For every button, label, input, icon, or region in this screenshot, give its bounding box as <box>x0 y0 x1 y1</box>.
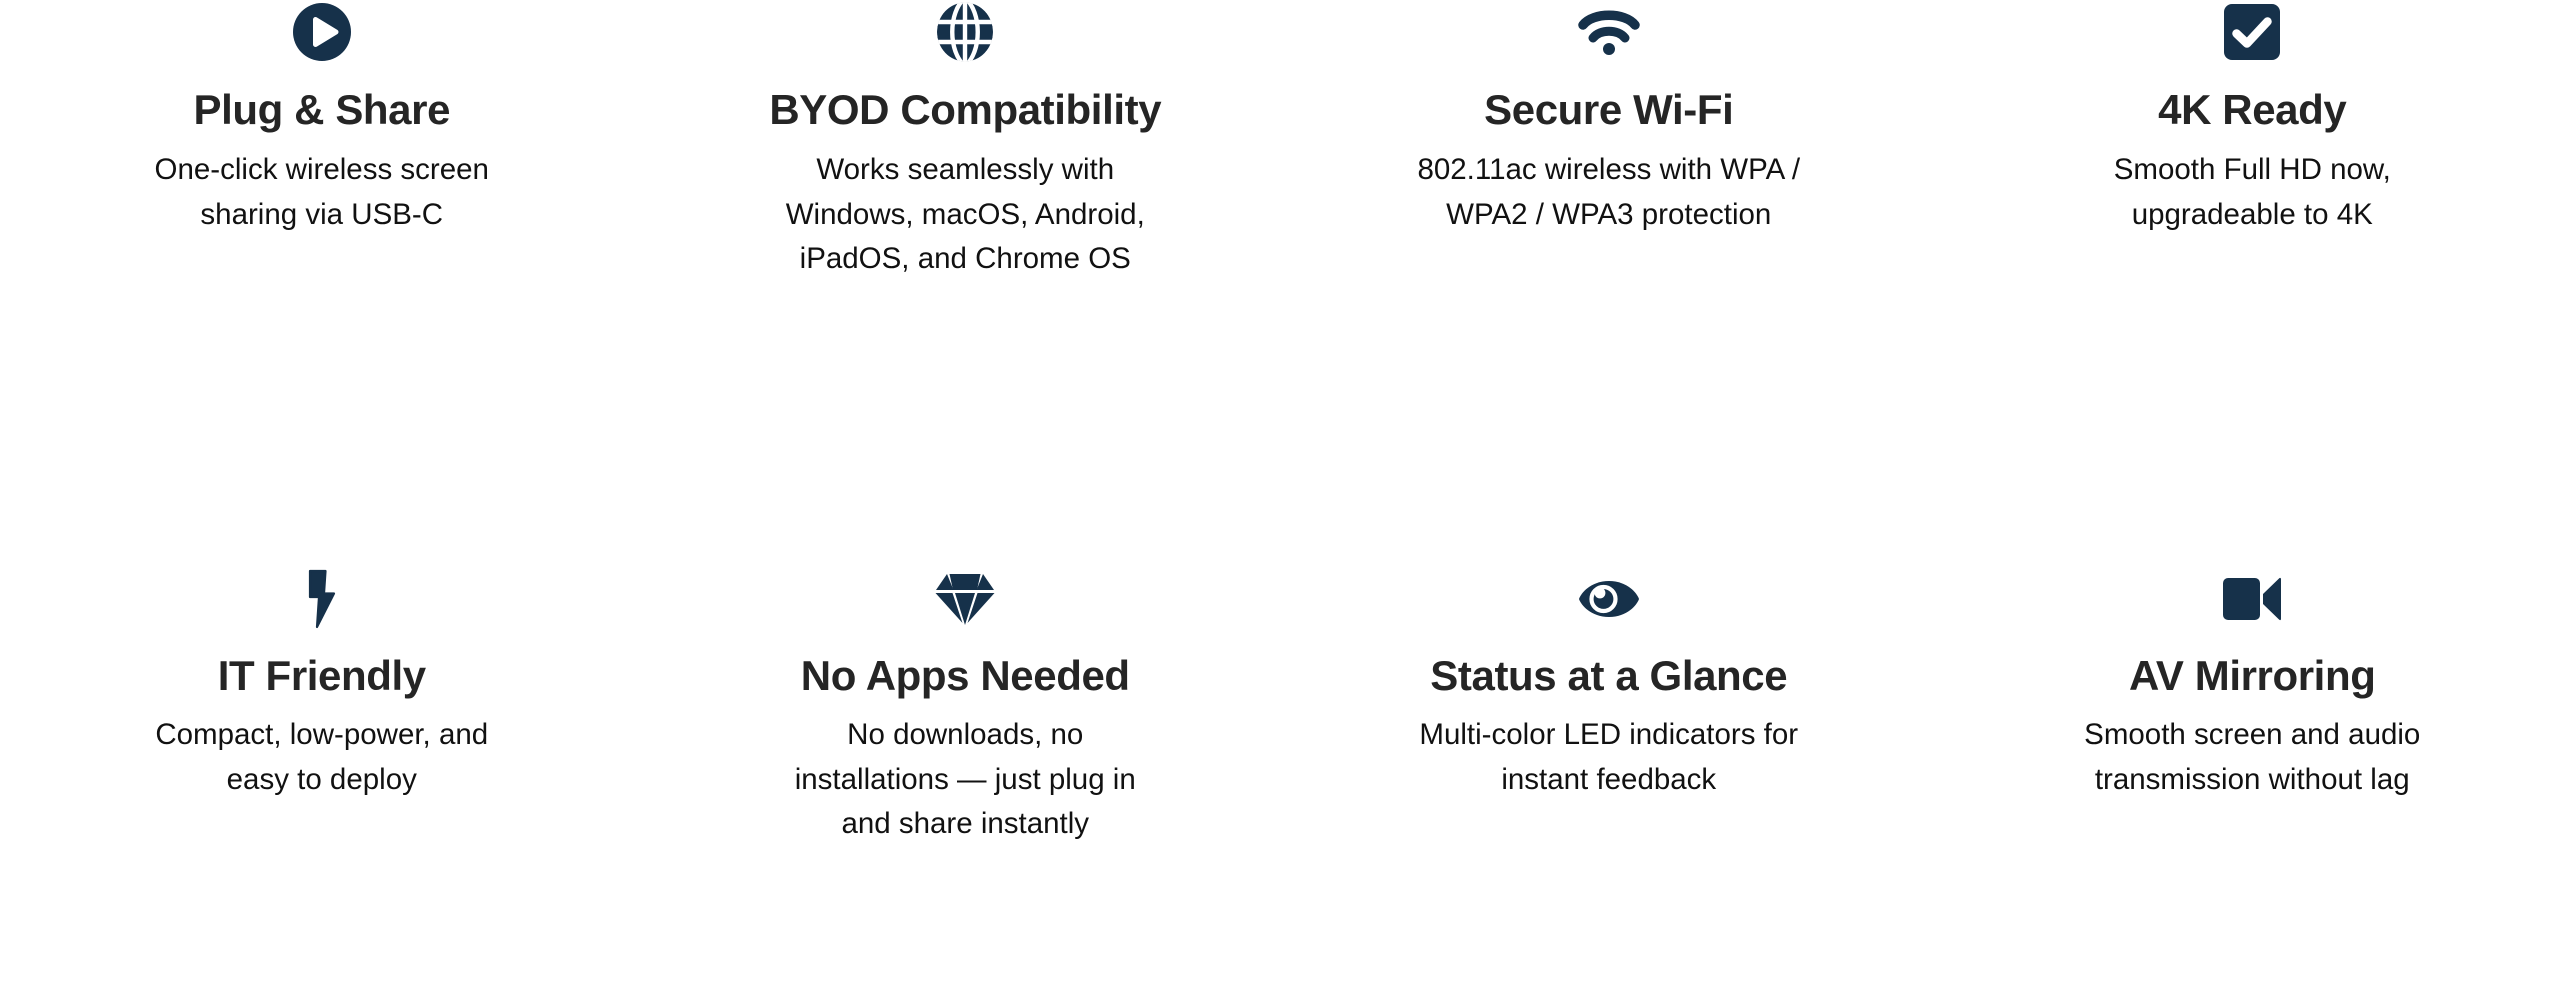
feature-card-av-mirroring: AV Mirroring Smooth screen and audio tra… <box>1931 567 2574 1004</box>
feature-description: Compact, low-power, and easy to deploy <box>122 713 522 802</box>
feature-title: AV Mirroring <box>2129 653 2375 698</box>
gem-icon <box>933 567 997 631</box>
feature-description: No downloads, no installations — just pl… <box>775 713 1155 846</box>
video-camera-icon <box>2220 567 2284 631</box>
check-square-icon <box>2220 0 2284 64</box>
feature-card-it-friendly: IT Friendly Compact, low-power, and easy… <box>0 567 644 1004</box>
feature-description: Smooth Full HD now, upgradeable to 4K <box>2052 148 2452 237</box>
feature-description: 802.11ac wireless with WPA / WPA2 / WPA3… <box>1409 148 1809 237</box>
feature-grid: Plug & Share One-click wireless screen s… <box>0 0 2574 1004</box>
feature-title: BYOD Compatibility <box>769 87 1161 132</box>
bolt-icon <box>290 567 354 631</box>
feature-description: Works seamlessly with Windows, macOS, An… <box>775 148 1155 281</box>
feature-title: Status at a Glance <box>1430 653 1787 698</box>
feature-title: 4K Ready <box>2158 87 2346 132</box>
feature-card-4k-ready: 4K Ready Smooth Full HD now, upgradeable… <box>1931 0 2574 567</box>
feature-title: Secure Wi-Fi <box>1484 87 1733 132</box>
globe-icon <box>933 0 997 64</box>
wifi-icon <box>1577 0 1641 64</box>
feature-title: Plug & Share <box>193 87 450 132</box>
feature-card-secure-wifi: Secure Wi-Fi 802.11ac wireless with WPA … <box>1287 0 1931 567</box>
feature-card-plug-and-share: Plug & Share One-click wireless screen s… <box>0 0 644 567</box>
eye-icon <box>1577 567 1641 631</box>
feature-title: No Apps Needed <box>801 653 1130 698</box>
feature-description: One-click wireless screen sharing via US… <box>122 148 522 237</box>
feature-card-no-apps-needed: No Apps Needed No downloads, no installa… <box>644 567 1288 1004</box>
feature-card-byod-compatibility: BYOD Compatibility Works seamlessly with… <box>644 0 1288 567</box>
feature-title: IT Friendly <box>218 653 426 698</box>
play-circle-icon <box>290 0 354 64</box>
feature-description: Smooth screen and audio transmission wit… <box>2052 713 2452 802</box>
feature-description: Multi-color LED indicators for instant f… <box>1409 713 1809 802</box>
feature-card-status-at-a-glance: Status at a Glance Multi-color LED indic… <box>1287 567 1931 1004</box>
